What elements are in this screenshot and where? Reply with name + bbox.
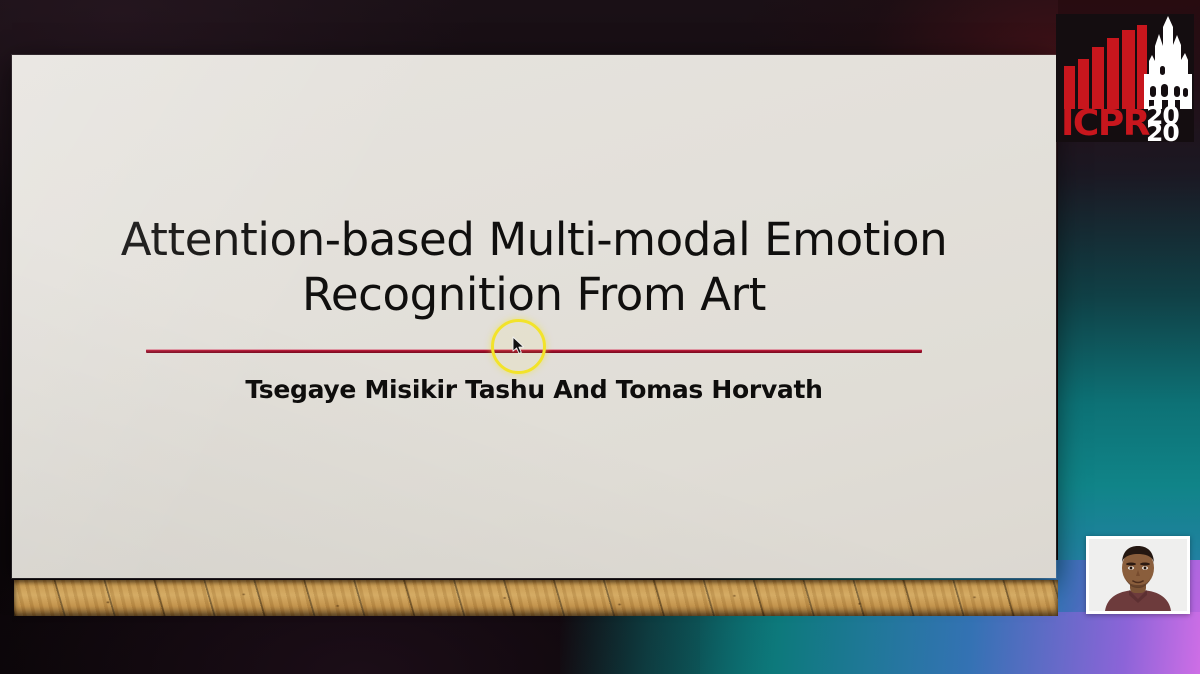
slide-title: Attention-based Multi-modal Emotion Reco… (82, 213, 986, 323)
floor-grain (14, 580, 1058, 616)
slide-authors: Tsegaye Misikir Tashu And Tomas Horvath (82, 375, 986, 404)
presenter-portrait-icon (1089, 539, 1187, 611)
presentation-video-frame: Attention-based Multi-modal Emotion Reco… (0, 0, 1200, 674)
slide-content: Attention-based Multi-modal Emotion Reco… (12, 213, 1056, 404)
floor-knots (14, 580, 1058, 616)
logo-acronym: ICPR (1061, 103, 1150, 142)
bottom-gradient-fade (560, 612, 1200, 674)
presentation-slide[interactable]: Attention-based Multi-modal Emotion Reco… (12, 55, 1056, 578)
wooden-floor (14, 580, 1058, 616)
title-divider-rule (146, 349, 922, 353)
icpr-logo: ICPR 20 20 (1056, 14, 1194, 142)
presenter-headshot (1089, 539, 1187, 611)
logo-year-bottom: 20 (1146, 118, 1179, 142)
presenter-video-thumbnail[interactable] (1086, 536, 1190, 614)
